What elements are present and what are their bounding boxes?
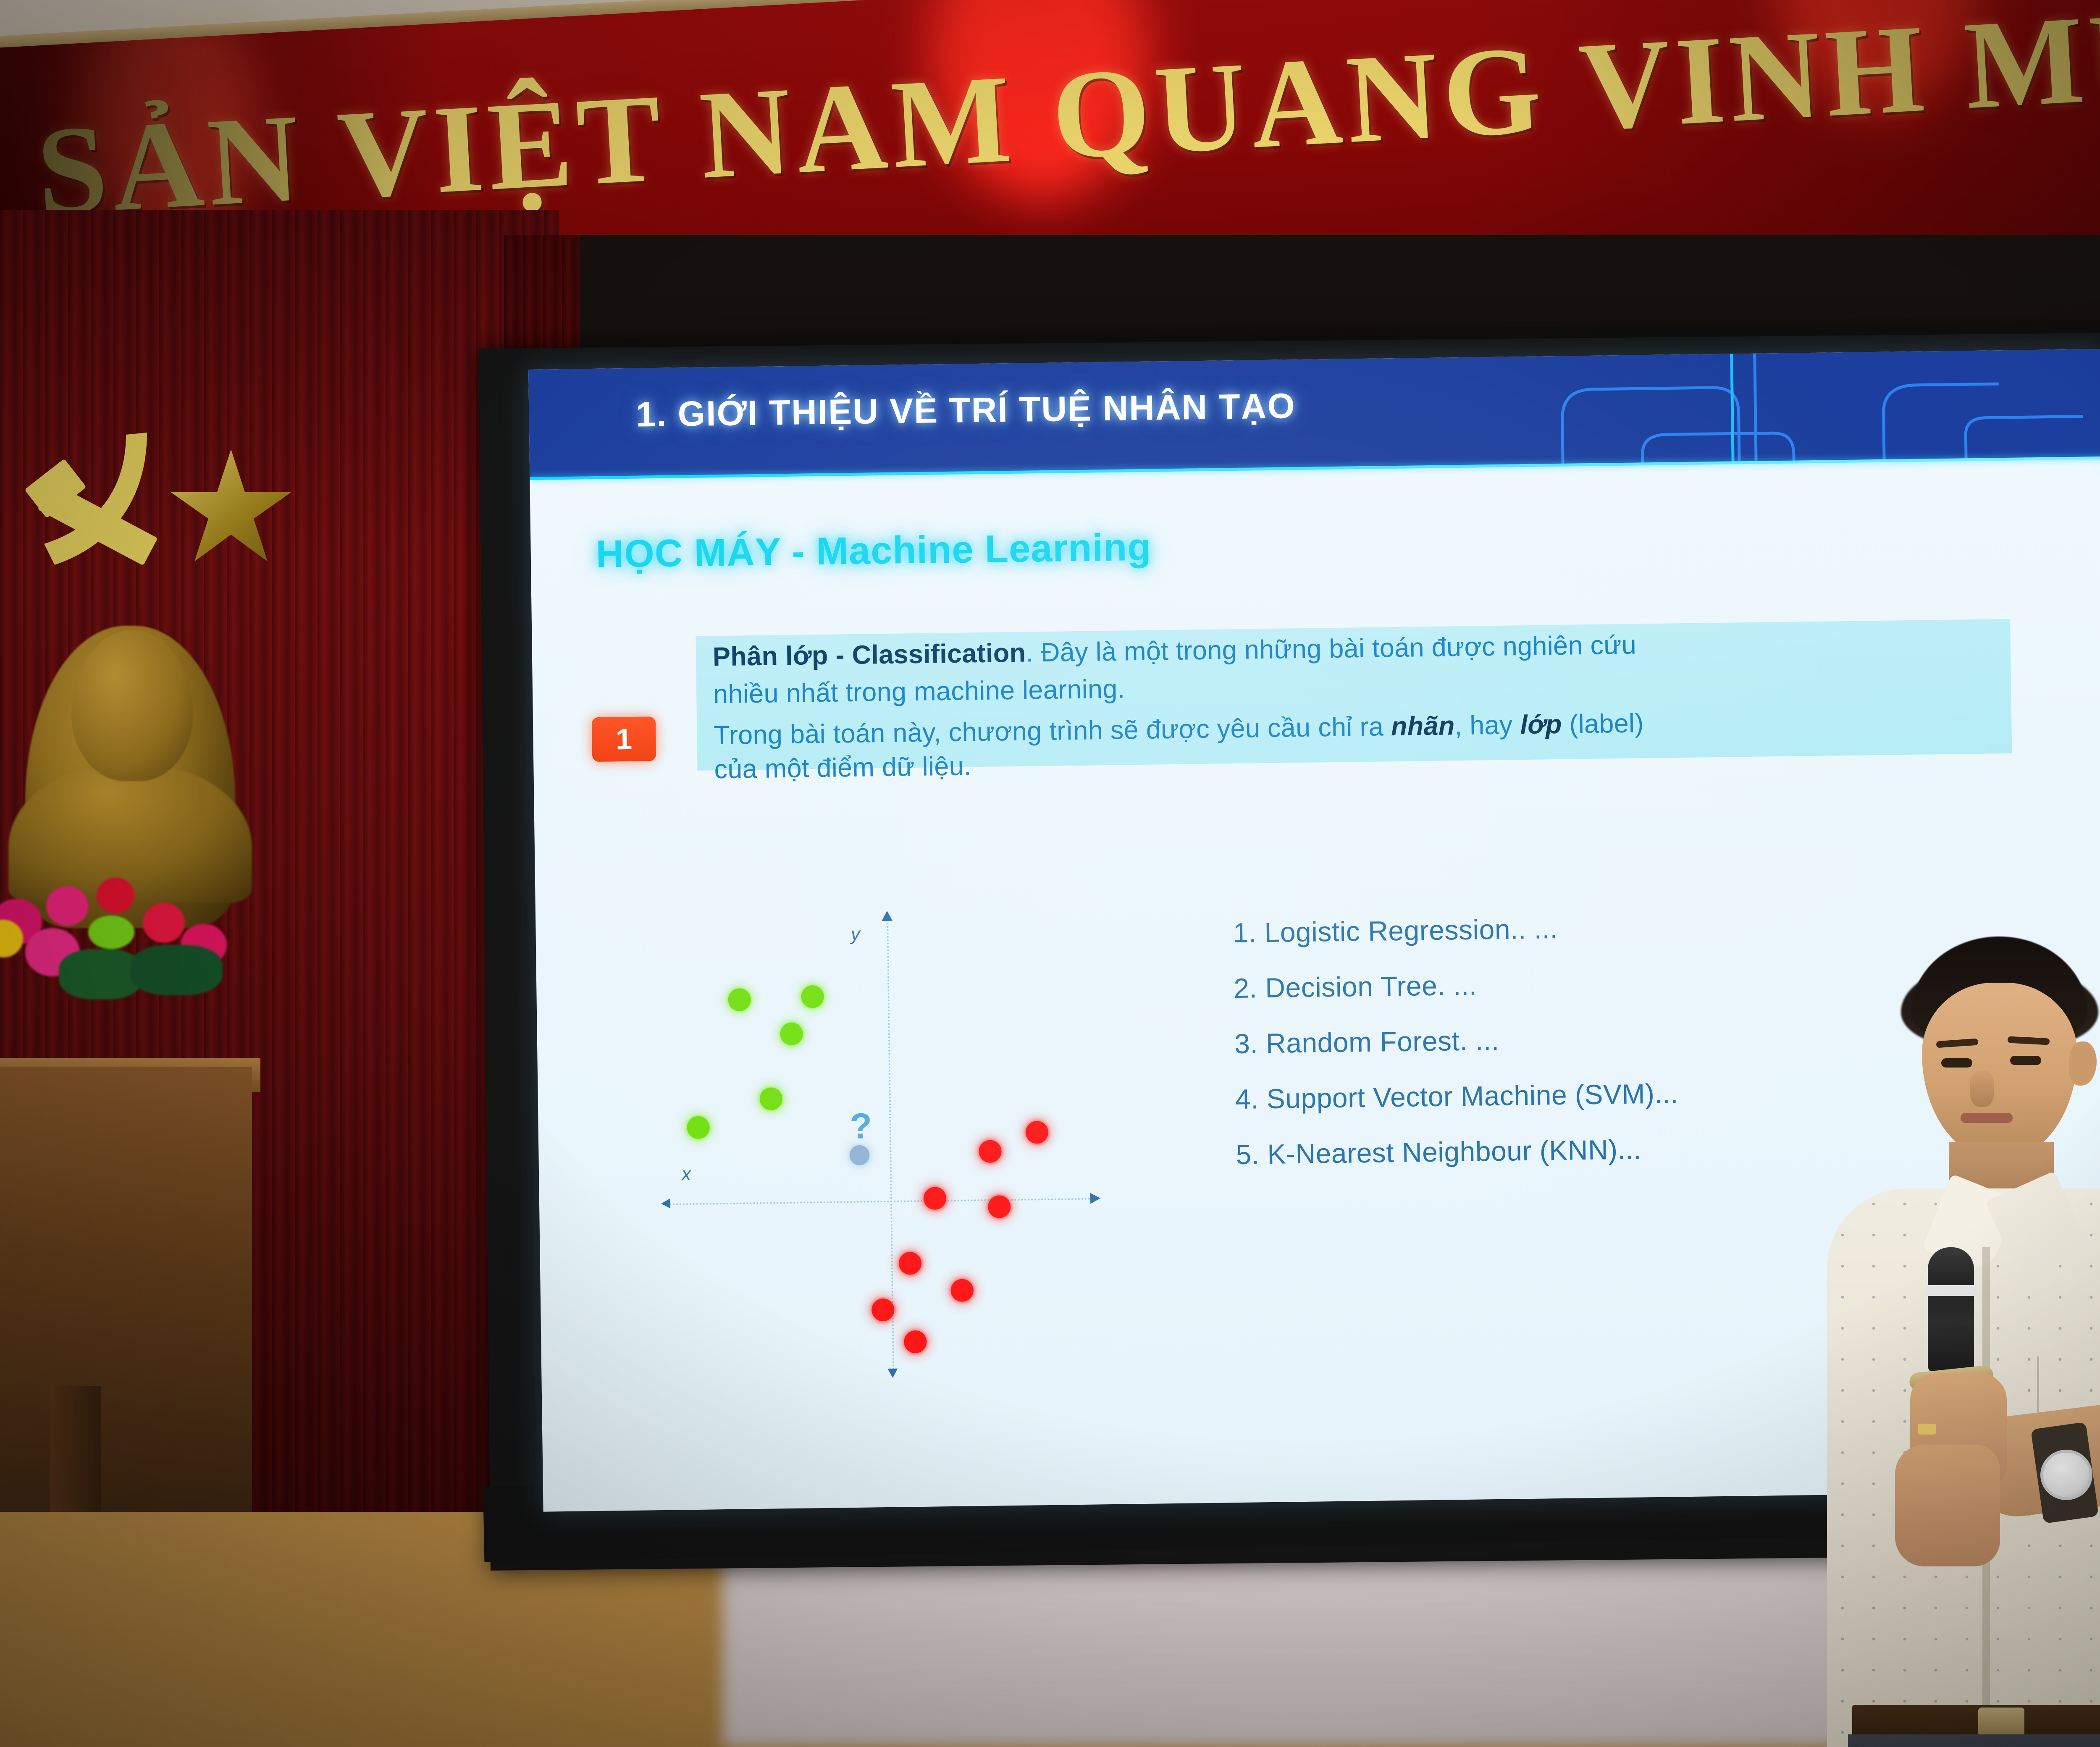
presenter-eye [1941,1058,1972,1068]
callout-emphasis-lop: lớp [1520,710,1562,740]
scatter-point-red [904,1330,927,1353]
classification-scatter-plot: x y ? [653,904,1113,1397]
watch-face [2040,1450,2092,1500]
callout-line2: nhiều nhất trong machine learning. [713,674,1125,709]
callout-emphasis-nhan: nhãn [1391,711,1455,741]
scatter-point-green [728,988,751,1011]
scatter-point-green [780,1022,803,1045]
x-axis-arrow-icon [1090,1193,1100,1204]
party-emblem [17,420,311,613]
slide-header-title: 1. GIỚI THIỆU VỀ TRÍ TUỆ NHÂN TẠO [636,386,1296,435]
scatter-point-green [687,1116,710,1139]
presenter-nose [1970,1071,1994,1107]
presenter-face [1922,983,2077,1159]
callout-line1-rest: . Đây là một trong những bài toán được n… [1026,630,1637,668]
scatter-point-green [759,1087,782,1110]
unknown-point-question-mark: ? [850,1105,872,1147]
scatter-points-layer: ? [653,904,1107,910]
callout-line3-a: Trong bài toán này, chương trình sẽ được… [714,712,1391,750]
x-axis [669,1198,1094,1205]
callout-paragraph: Phân lớp - Classification. Đây là một tr… [712,622,2008,789]
scatter-point-unknown [849,1145,870,1166]
callout-line3-b: , hay [1454,710,1520,740]
scatter-point-red [871,1298,895,1321]
callout-number-badge: 1 [592,716,656,762]
wristwatch-icon [2037,1440,2100,1503]
conference-hall-scene: G SẢN VIỆT NAM QUANG VINH MUÔN N [0,0,2100,1747]
wedding-ring-icon [1918,1424,1936,1435]
y-axis-arrow-down-icon [887,1369,898,1378]
presenter-ear [2069,1041,2097,1086]
presenter-eye [2010,1056,2041,1065]
scatter-point-green [801,985,824,1008]
scatter-point-red [988,1195,1011,1218]
x-axis-arrow-left-icon [661,1199,670,1209]
presenter-hand-lower [1895,1445,2000,1566]
slide-section-title: HỌC MÁY - Machine Learning [596,525,1152,577]
presenter [1802,936,2100,1747]
presenter-trousers [1848,1734,2100,1747]
microphone-label-band [1926,1285,1977,1296]
callout-line4: của một điểm dữ liệu. [714,752,971,784]
flower-arrangement [0,873,252,995]
hammer-and-sickle-icon [21,420,164,588]
presenter-mouth [1961,1113,2013,1123]
callout-line3-c: (label) [1562,708,1644,739]
scatter-point-red [979,1140,1002,1163]
microphone-icon [1928,1247,1974,1373]
callout-term: Phân lớp - Classification [713,638,1026,672]
scatter-point-red [899,1251,922,1275]
y-axis-label: y [850,924,860,945]
gold-star-icon [168,449,294,571]
scatter-point-red [924,1187,947,1210]
scatter-point-red [950,1279,974,1302]
y-axis-arrow-icon [882,911,892,921]
x-axis-label: x [682,1164,691,1185]
wooden-podium [0,1067,252,1520]
scatter-point-red [1026,1120,1049,1144]
